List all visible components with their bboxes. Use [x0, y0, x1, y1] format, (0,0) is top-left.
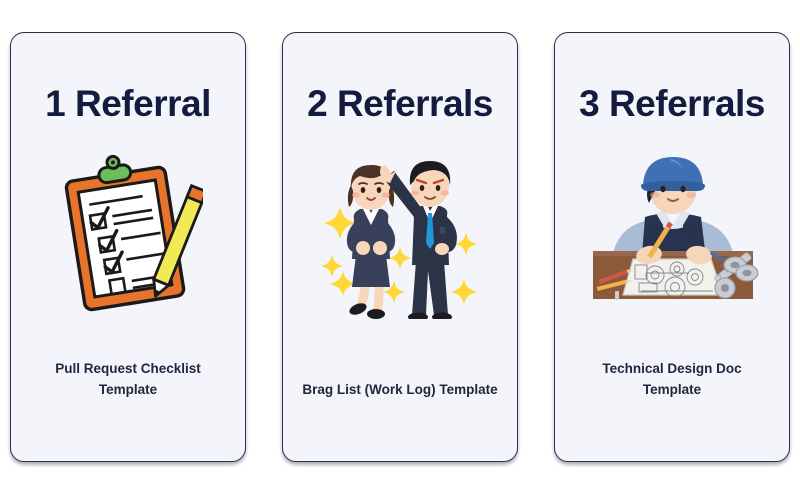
referral-tier-card-2[interactable]: 2 Referrals	[282, 32, 518, 462]
card-caption: Technical Design Doc Template	[572, 359, 772, 401]
card-title: 2 Referrals	[307, 85, 493, 122]
card-caption: Pull Request Checklist Template	[28, 359, 228, 401]
card-caption: Brag List (Work Log) Template	[300, 380, 500, 401]
referral-tier-card-3[interactable]: 3 Referrals	[554, 32, 790, 462]
celebrating-business-people-icon	[305, 150, 495, 320]
engineer-drafting-blueprint-icon	[577, 150, 767, 320]
card-title: 3 Referrals	[579, 85, 765, 122]
referral-rewards-board: 1 Referral	[0, 0, 800, 500]
referral-tier-card-1[interactable]: 1 Referral	[10, 32, 246, 462]
clipboard-checklist-icon	[33, 150, 223, 320]
card-title: 1 Referral	[45, 85, 211, 122]
